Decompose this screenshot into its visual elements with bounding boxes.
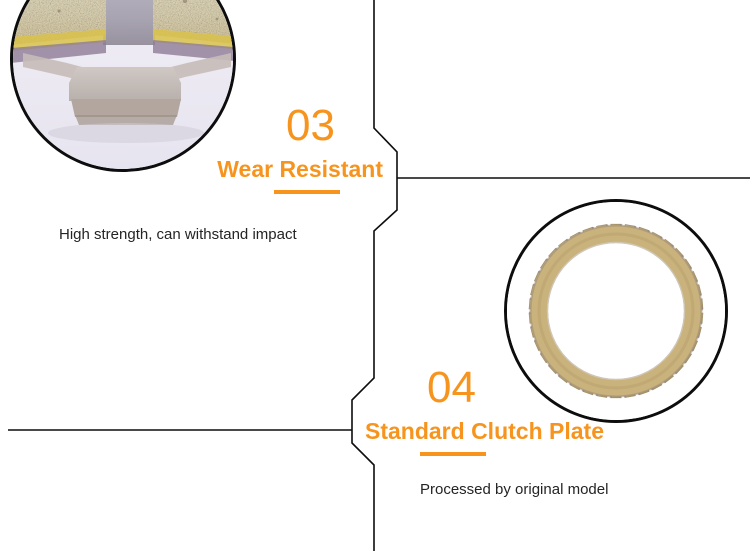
feature-04: 04 Standard Clutch Plate <box>365 366 750 456</box>
feature-04-title: Standard Clutch Plate <box>365 420 750 443</box>
feature-04-underline <box>420 452 486 456</box>
feature-banner: 03 Wear Resistant High strength, can wit… <box>0 0 750 551</box>
feature-04-description: Processed by original model <box>420 482 608 497</box>
feature-03: 03 Wear Resistant <box>0 104 385 194</box>
feature-04-number: 04 <box>365 366 750 410</box>
feature-03-number: 03 <box>0 104 385 148</box>
feature-03-underline <box>274 190 340 194</box>
feature-03-title: Wear Resistant <box>0 158 385 181</box>
feature-03-description: High strength, can withstand impact <box>59 227 297 242</box>
